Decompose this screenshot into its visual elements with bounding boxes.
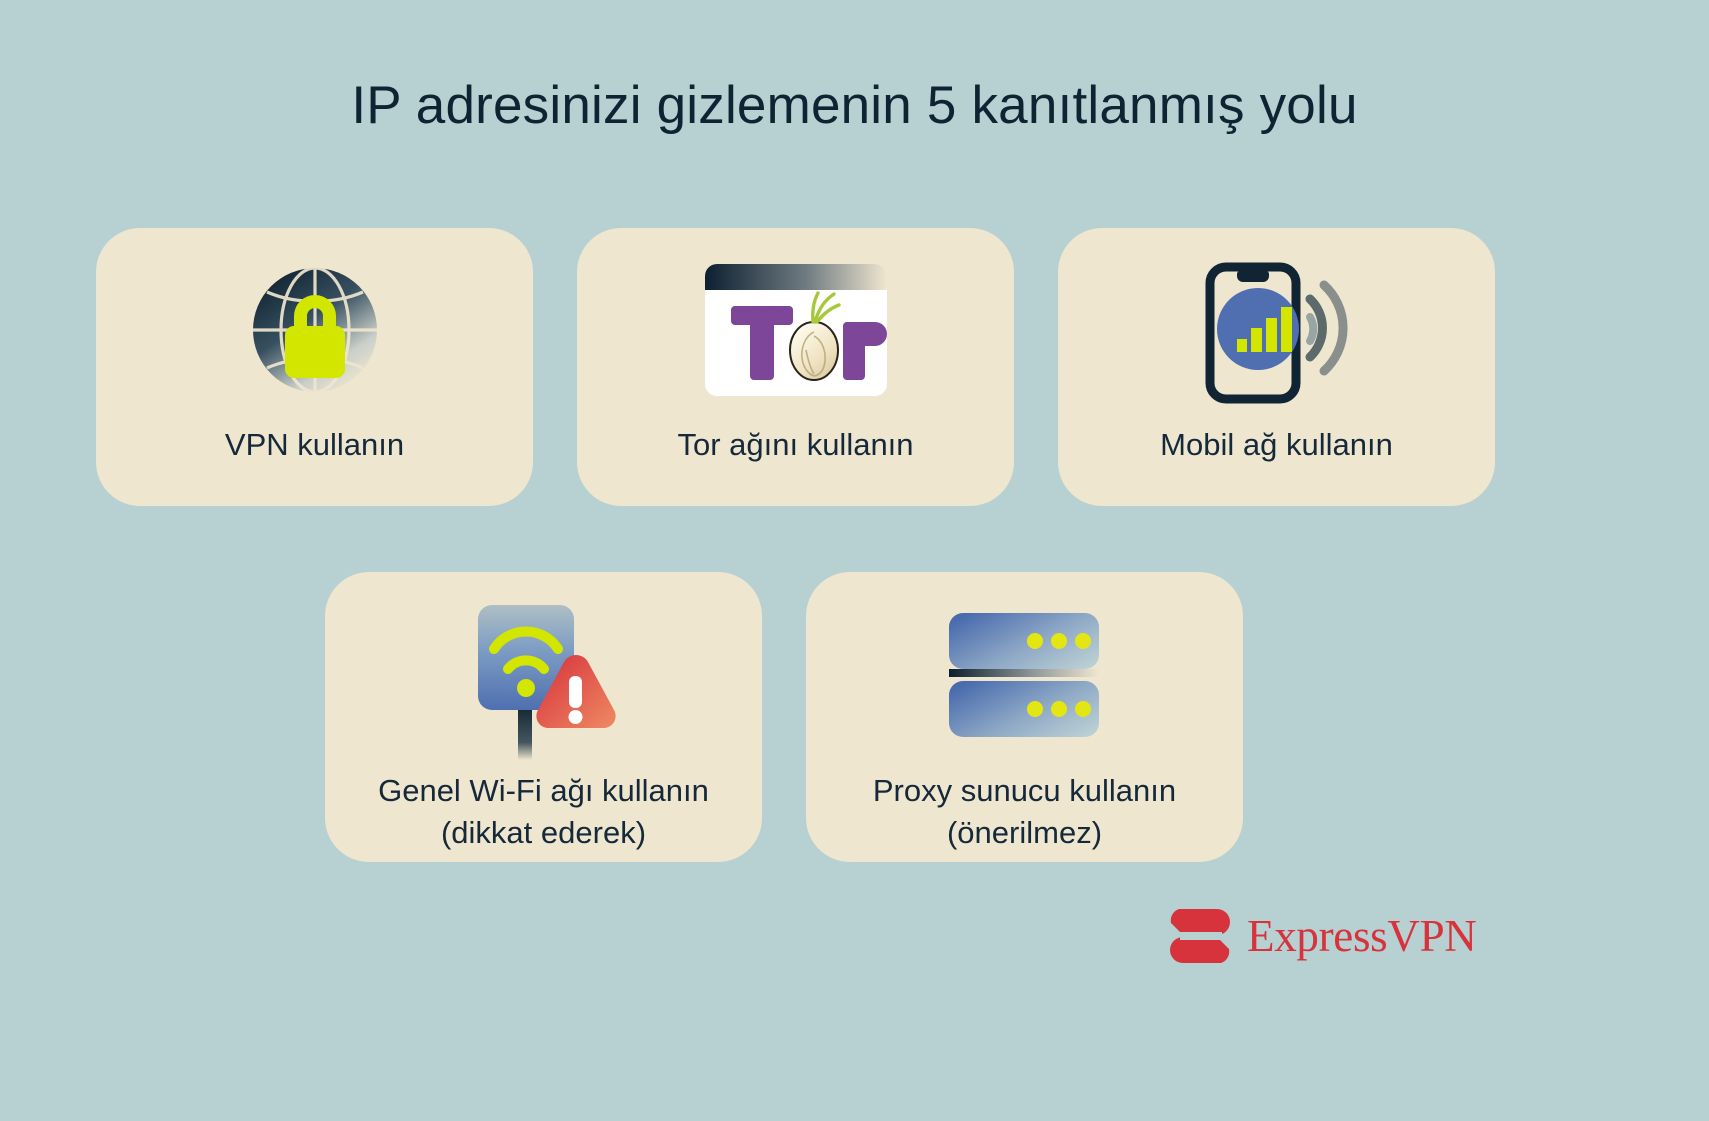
- infographic-page: IP adresinizi gizlemenin 5 kanıtlanmış y…: [0, 0, 1709, 1121]
- card-label-line1: Genel Wi-Fi ağı kullanın: [378, 770, 709, 812]
- card-mobile[interactable]: Mobil ağ kullanın: [1058, 228, 1495, 506]
- tor-browser-icon: [703, 246, 889, 414]
- card-label-vpn: VPN kullanın: [211, 424, 418, 466]
- card-label-line2: (dikkat ederek): [378, 812, 709, 854]
- card-vpn[interactable]: VPN kullanın: [96, 228, 533, 506]
- globe-lock-icon: [240, 246, 390, 414]
- card-tor[interactable]: Tor ağını kullanın: [577, 228, 1014, 506]
- expressvpn-wordmark: ExpressVPN: [1247, 914, 1477, 959]
- expressvpn-brand[interactable]: ExpressVPN: [1167, 905, 1477, 967]
- card-label-public-wifi: Genel Wi-Fi ağı kullanın (dikkat ederek): [364, 770, 723, 853]
- card-label-mobile: Mobil ağ kullanın: [1146, 424, 1407, 466]
- wifi-warning-icon: [456, 594, 631, 764]
- card-proxy[interactable]: Proxy sunucu kullanın (önerilmez): [806, 572, 1243, 862]
- card-label-proxy: Proxy sunucu kullanın (önerilmez): [859, 770, 1190, 853]
- expressvpn-logo-icon: [1167, 905, 1233, 967]
- page-title: IP adresinizi gizlemenin 5 kanıtlanmış y…: [0, 76, 1709, 137]
- card-row-top: VPN kullanın: [96, 228, 1495, 506]
- card-public-wifi[interactable]: Genel Wi-Fi ağı kullanın (dikkat ederek): [325, 572, 762, 862]
- mobile-signal-icon: [1192, 246, 1362, 414]
- card-label-tor: Tor ağını kullanın: [663, 424, 927, 466]
- card-label-line1: Proxy sunucu kullanın: [873, 770, 1176, 812]
- card-row-bottom: Genel Wi-Fi ağı kullanın (dikkat ederek): [325, 572, 1243, 862]
- card-label-line2: (önerilmez): [873, 812, 1176, 854]
- server-stack-icon: [945, 594, 1105, 764]
